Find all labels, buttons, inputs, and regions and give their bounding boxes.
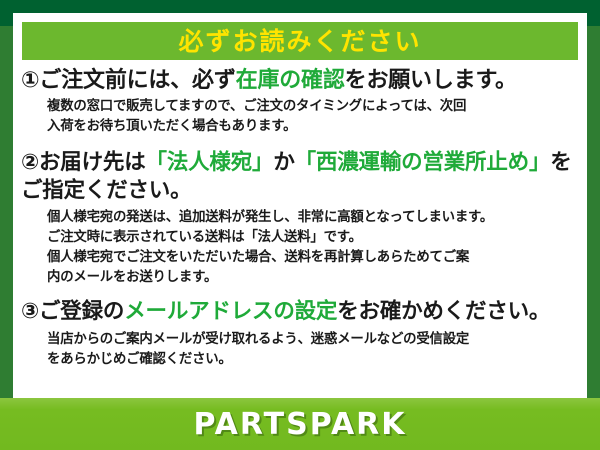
notice-item-1-body-line-1: 複数の窓口で販売してますので、ご注文のタイミングによっては、次回 bbox=[47, 97, 583, 117]
notice-item-3-heading-before: ③ご登録の bbox=[21, 299, 124, 324]
notice-item-1-heading-after: をお願いします。 bbox=[345, 68, 517, 93]
notice-item-2-heading-middle: か bbox=[273, 150, 294, 175]
notice-item-2-heading: ②お届け先は「法人様宛」か「西濃運輸の営業所止め」をご指定ください。 bbox=[19, 149, 583, 206]
notice-item-2: ②お届け先は「法人様宛」か「西濃運輸の営業所止め」をご指定ください。 個人様宅宛… bbox=[19, 149, 583, 288]
notice-item-1-body-line-2: 入荷をお待ち頂いただく場合もあります。 bbox=[47, 117, 583, 137]
notice-item-3-body: 当店からのご案内メールが受け取れるよう、迷惑メールなどの受信設定 をあらかじめご… bbox=[19, 326, 583, 370]
frame-border-left bbox=[0, 0, 13, 400]
notice-item-3-heading-highlight: メールアドレスの設定 bbox=[124, 299, 337, 324]
notice-item-3-body-line-1: 当店からのご案内メールが受け取れるよう、迷惑メールなどの受信設定 bbox=[47, 330, 583, 350]
notice-item-2-body-line-4: 内のメールをお送りします。 bbox=[47, 268, 583, 288]
notice-item-2-body-line-2: ご注文時に表示されている送料は「法人送料」です。 bbox=[47, 228, 583, 248]
notice-title-text: 必ずお読みください bbox=[178, 29, 421, 54]
frame-border-right bbox=[587, 0, 600, 400]
brand-logo-text: PARTSPARK bbox=[193, 407, 406, 442]
notice-item-3-heading: ③ご登録のメールアドレスの設定をお確かめください。 bbox=[19, 298, 583, 326]
notice-items-list: ①ご注文前には、必ず在庫の確認をお願いします。 複数の窓口で販売してますので、ご… bbox=[13, 66, 587, 396]
notice-item-3-heading-after: をお確かめください。 bbox=[337, 299, 550, 324]
notice-item-2-body-line-1: 個人様宅宛の発送は、追加送料が発生し、非常に高額となってしまいます。 bbox=[47, 208, 583, 228]
notice-item-3-body-line-2: をあらかじめご確認ください。 bbox=[47, 350, 583, 370]
notice-item-2-heading-highlight-1: 「法人様宛」 bbox=[146, 150, 274, 175]
notice-item-1: ①ご注文前には、必ず在庫の確認をお願いします。 複数の窓口で販売してますので、ご… bbox=[19, 66, 583, 137]
footer-brand-bar: PARTSPARK bbox=[0, 398, 600, 450]
notice-item-2-heading-before: ②お届け先は bbox=[21, 150, 146, 175]
notice-item-1-body: 複数の窓口で販売してますので、ご注文のタイミングによっては、次回 入荷をお待ち頂… bbox=[19, 95, 583, 137]
notice-banner-image: 必ずお読みください ①ご注文前には、必ず在庫の確認をお願いします。 複数の窓口で… bbox=[0, 0, 600, 450]
notice-item-1-heading: ①ご注文前には、必ず在庫の確認をお願いします。 bbox=[19, 66, 583, 95]
notice-item-1-heading-before: ①ご注文前には、必ず bbox=[21, 68, 236, 93]
notice-title-banner: 必ずお読みください bbox=[22, 22, 578, 60]
notice-item-2-body: 個人様宅宛の発送は、追加送料が発生し、非常に高額となってしまいます。 ご注文時に… bbox=[19, 205, 583, 287]
frame-border-top bbox=[0, 0, 600, 13]
notice-item-2-heading-highlight-2: 「西濃運輸の営業所止め」 bbox=[295, 150, 551, 175]
notice-item-1-heading-highlight: 在庫の確認 bbox=[236, 68, 345, 93]
notice-item-3: ③ご登録のメールアドレスの設定をお確かめください。 当店からのご案内メールが受け… bbox=[19, 298, 583, 370]
notice-item-2-body-line-3: 個人様宅宛でご注文をいただいた場合、送料を再計算しあらためてご案 bbox=[47, 248, 583, 268]
frame-corner-top-right bbox=[587, 0, 600, 26]
frame-corner-top-left bbox=[0, 0, 13, 26]
